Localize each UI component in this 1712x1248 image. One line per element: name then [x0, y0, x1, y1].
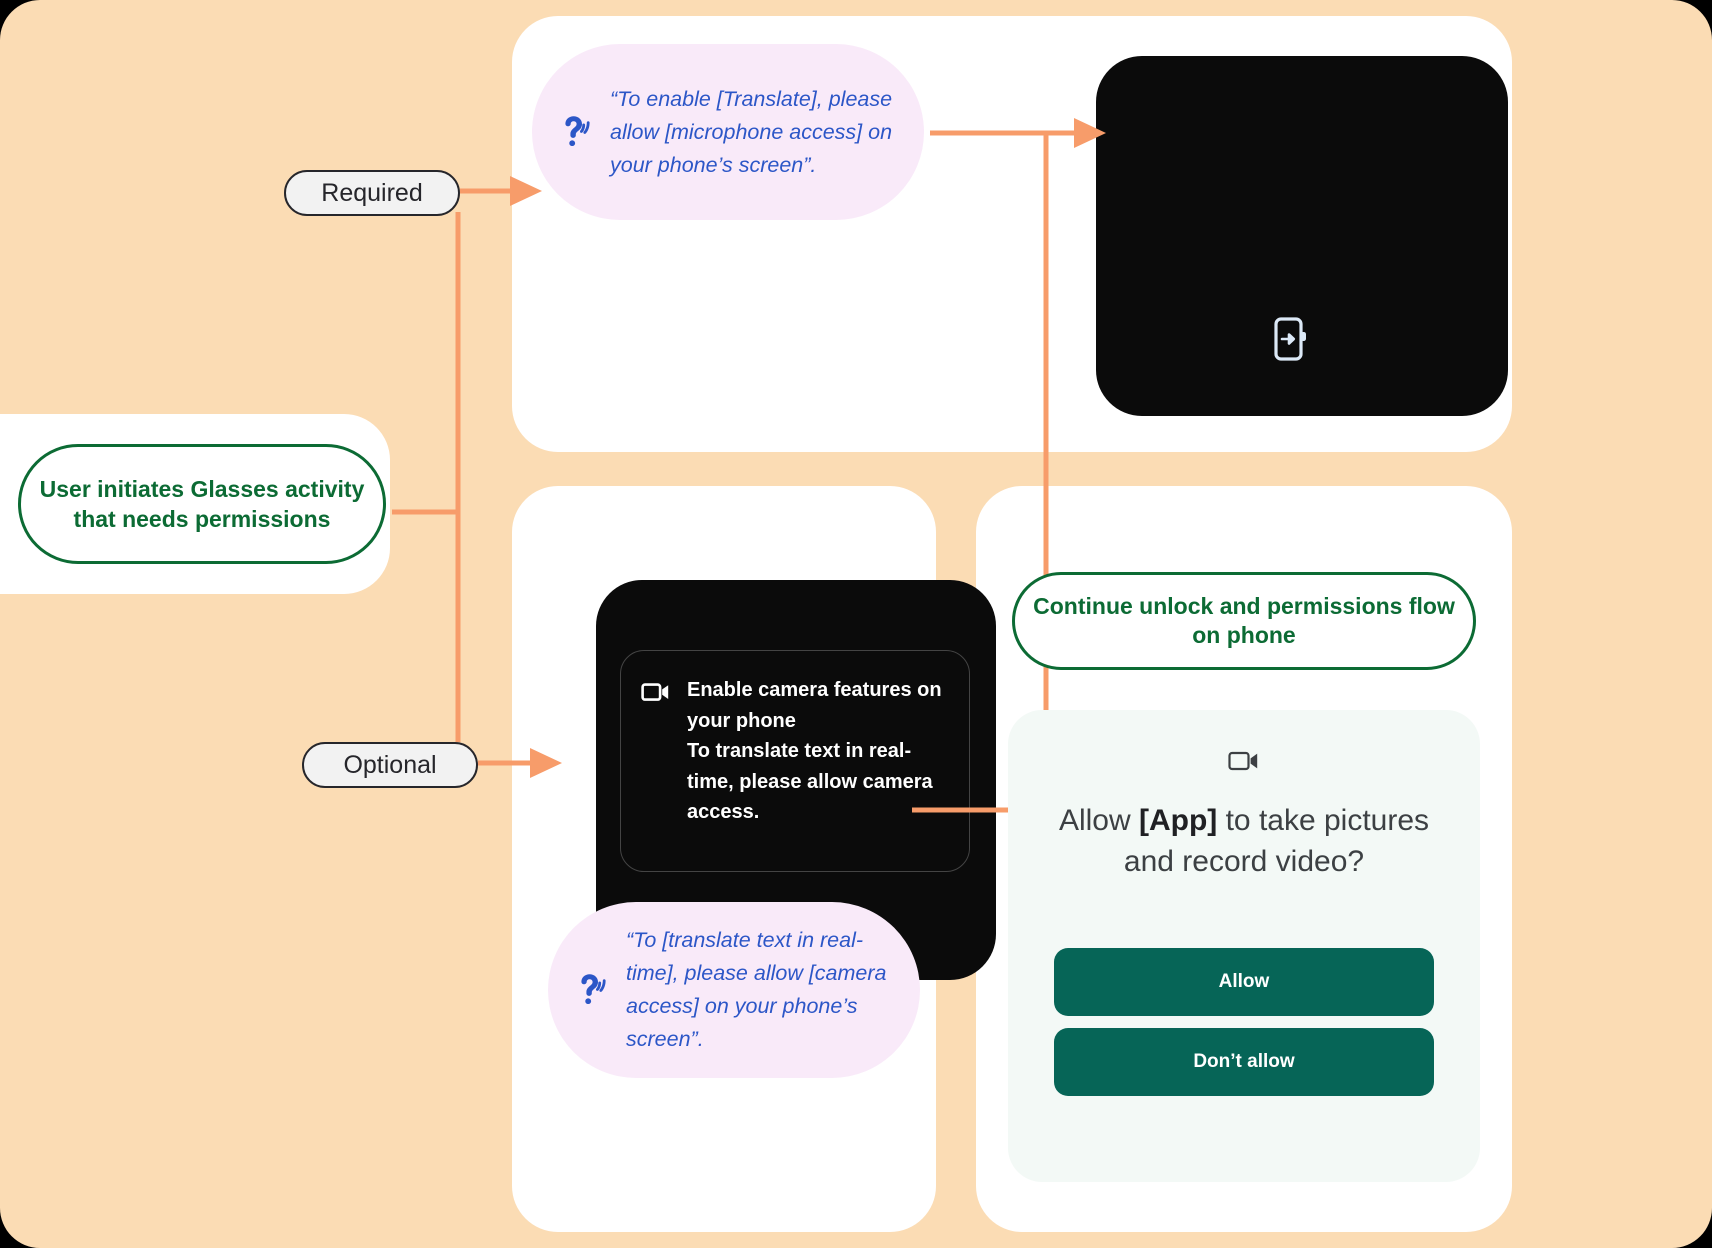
branch-pill-required[interactable]: Required: [284, 170, 460, 216]
glasses-notification-card: Enable camera features on your phone To …: [620, 650, 970, 872]
phone-flow-node: Continue unlock and permissions flow on …: [1012, 572, 1476, 670]
start-node: User initiates Glasses activity that nee…: [18, 444, 386, 564]
diagram-canvas: User initiates Glasses activity that nee…: [0, 0, 1712, 1248]
video-camera-icon: [1228, 748, 1260, 774]
glasses-card-title: Enable camera features on your phone: [687, 675, 947, 736]
allow-button[interactable]: Allow: [1054, 948, 1434, 1016]
glasses-screen-unlock: [1096, 56, 1508, 416]
ear-hearing-icon: [558, 114, 592, 150]
speech-bubble-camera-text: “To [translate text in real-time], pleas…: [626, 924, 898, 1056]
branch-pill-optional[interactable]: Optional: [302, 742, 478, 788]
start-node-label: User initiates Glasses activity that nee…: [21, 474, 383, 534]
android-permission-dialog: Allow [App] to take pictures and record …: [1008, 710, 1480, 1182]
speech-bubble-camera: “To [translate text in real-time], pleas…: [548, 902, 920, 1078]
permission-question: Allow [App] to take pictures and record …: [1044, 800, 1444, 882]
speech-bubble-microphone: “To enable [Translate], please allow [mi…: [532, 44, 924, 220]
glasses-card-body: To translate text in real-time, please a…: [687, 736, 947, 828]
video-camera-icon: [641, 680, 671, 704]
branch-pill-optional-label: Optional: [343, 751, 436, 780]
ear-hearing-icon: [574, 972, 608, 1008]
speech-bubble-microphone-text: “To enable [Translate], please allow [mi…: [610, 83, 902, 182]
dont-allow-button[interactable]: Don’t allow: [1054, 1028, 1434, 1096]
branch-pill-required-label: Required: [321, 179, 422, 208]
permission-question-prefix: Allow: [1059, 804, 1139, 837]
permission-app-name: [App]: [1139, 804, 1217, 837]
phone-arrow-icon: [1272, 316, 1310, 362]
phone-flow-node-label: Continue unlock and permissions flow on …: [1015, 592, 1473, 650]
